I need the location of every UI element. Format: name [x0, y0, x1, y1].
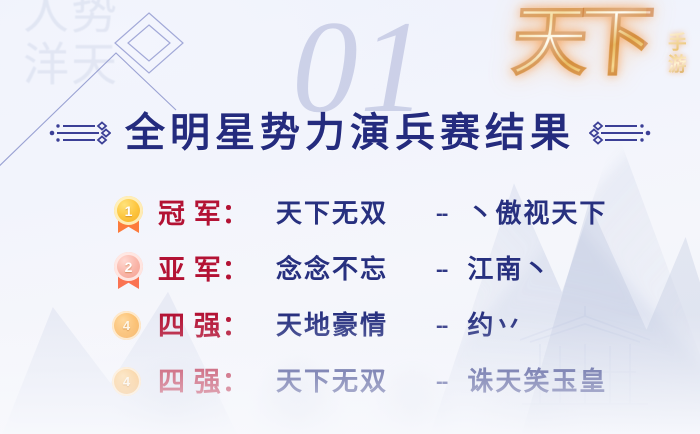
player-name: 诛天笑玉皇 — [467, 367, 607, 397]
list-item: 4 四 强： 天地豪情 -- 约丷 — [0, 298, 700, 354]
rank-four-circle-icon: 4 — [112, 367, 142, 397]
medal-rank-number: 2 — [114, 252, 143, 281]
separator: -- — [436, 371, 447, 394]
silver-medal-icon: 2 — [112, 251, 146, 289]
player-name: 约丷 — [467, 311, 523, 341]
medal-rank-number: 1 — [114, 196, 143, 225]
player-name: 丶傲视天下 — [467, 199, 607, 229]
gold-medal-icon: 1 — [112, 195, 146, 233]
brand-logo-subtitle: 手游 — [665, 32, 686, 76]
team-name: 天下无双 — [276, 199, 424, 229]
separator: -- — [436, 259, 447, 282]
team-name: 念念不忘 — [276, 255, 424, 285]
separator: -- — [436, 315, 447, 338]
brand-logo-mark: 天下 — [509, 2, 647, 84]
medal-rank-number: 4 — [112, 367, 141, 396]
calligraphy-watermark: 势天人洋 — [0, 0, 114, 118]
player-name: 江南丶 — [467, 255, 551, 285]
poster-canvas: 势天人洋 01 天下 手游 — [0, 0, 700, 434]
rank-label: 冠 军： — [158, 199, 276, 229]
rank-label: 四 强： — [158, 367, 276, 397]
team-name: 天地豪情 — [276, 311, 424, 341]
triple-line-diamond-ornament-right — [589, 116, 651, 150]
medal-rank-number: 4 — [112, 311, 141, 340]
rank-label: 亚 军： — [158, 255, 276, 285]
list-item: 2 亚 军： 念念不忘 -- 江南丶 — [0, 242, 700, 298]
list-item: 1 冠 军： 天下无双 -- 丶傲视天下 — [0, 186, 700, 242]
page-title: 全明星势力演兵赛结果 — [125, 109, 575, 157]
results-list: 1 冠 军： 天下无双 -- 丶傲视天下 2 亚 军： 念念不忘 -- 江南丶 … — [0, 186, 700, 410]
list-item: 4 四 强： 天下无双 -- 诛天笑玉皇 — [0, 354, 700, 410]
double-diamond-outline — [115, 13, 183, 73]
separator: -- — [436, 203, 447, 226]
rank-four-circle-icon: 4 — [112, 311, 142, 341]
rank-label: 四 强： — [158, 311, 276, 341]
team-name: 天下无双 — [276, 367, 424, 397]
triple-line-diamond-ornament-left — [49, 116, 111, 150]
brand-logo: 天下 手游 — [508, 2, 692, 102]
headline-row: 全明星势力演兵赛结果 — [0, 103, 700, 163]
